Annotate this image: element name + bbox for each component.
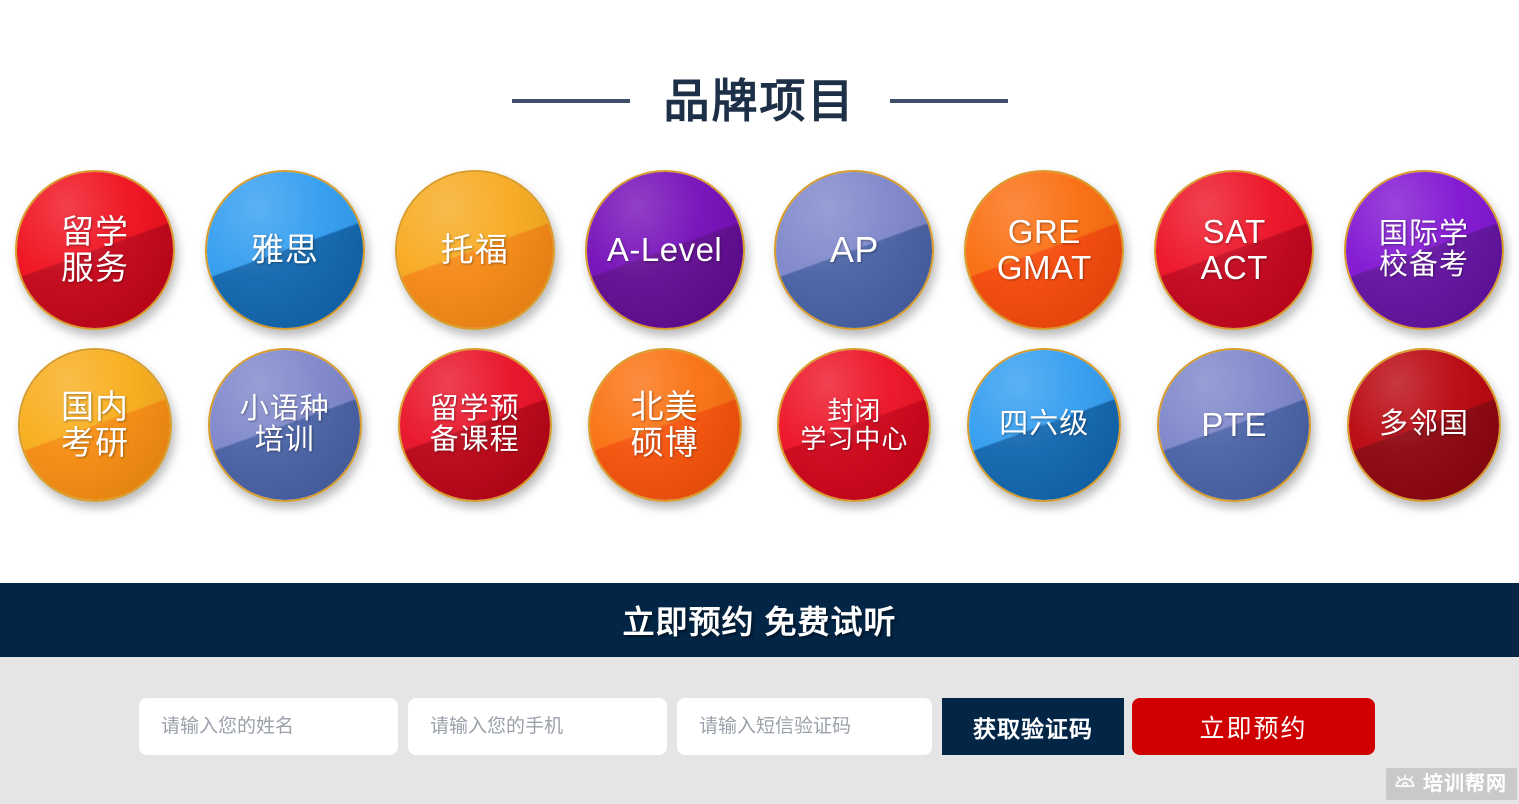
program-circle-grid: 留学 服务 雅思 托福 A-Level AP [0,170,1519,558]
program-cell: 雅思 [190,170,380,330]
eye-icon [1394,773,1416,795]
program-circle-ap[interactable]: AP [774,170,934,330]
booking-banner-title: 立即预约 免费试听 [623,597,897,643]
program-cell: 留学预 备课程 [380,348,570,502]
program-circle-gre-gmat[interactable]: GRE GMAT [964,170,1124,330]
program-cell: 留学 服务 [0,170,190,330]
program-label: 留学 服务 [55,214,135,285]
program-cell: 托福 [380,170,570,330]
sms-code-input[interactable] [677,698,932,755]
phone-input[interactable] [408,698,667,755]
program-circle-xiaoyuzhongpeixun[interactable]: 小语种 培训 [208,348,362,502]
program-label: AP [824,231,885,270]
program-cell: 小语种 培训 [190,348,380,502]
program-cell: SAT ACT [1139,170,1329,330]
booking-form-strip: 获取验证码 立即预约 [0,657,1519,804]
booking-banner: 立即预约 免费试听 [0,583,1519,657]
program-circle-fengbixuexizhongxin[interactable]: 封闭 学习中心 [777,348,931,502]
program-cell: A-Level [570,170,760,330]
submit-booking-button[interactable]: 立即预约 [1132,698,1375,755]
program-label: PTE [1195,407,1273,443]
heading-rule-left [512,99,630,103]
program-label: GRE GMAT [991,214,1098,285]
program-cell: 封闭 学习中心 [760,348,950,502]
program-circle-guoneikaoyan[interactable]: 国内 考研 [18,348,172,502]
program-label: A-Level [601,232,728,268]
program-row-1: 留学 服务 雅思 托福 A-Level AP [0,170,1519,330]
program-row-2: 国内 考研 小语种 培训 留学预 备课程 北美 硕博 封闭 学习 [0,348,1519,502]
program-label: 多邻国 [1373,409,1475,440]
section-heading: 品牌项目 [0,62,1519,140]
program-label: 四六级 [993,409,1095,440]
program-label: SAT ACT [1194,214,1274,285]
program-circle-a-level[interactable]: A-Level [585,170,745,330]
name-input[interactable] [139,698,398,755]
site-watermark: 培训帮网 [1386,768,1517,800]
program-cell: 多邻国 [1329,348,1519,502]
program-cell: 国际学 校备考 [1329,170,1519,330]
heading-rule-right [890,99,1008,103]
program-cell: GRE GMAT [949,170,1139,330]
program-cell: 四六级 [949,348,1139,502]
program-label: 封闭 学习中心 [794,397,914,453]
page-title: 品牌项目 [664,78,856,124]
program-circle-siliuji[interactable]: 四六级 [967,348,1121,502]
program-circle-duolinguo[interactable]: 多邻国 [1347,348,1501,502]
program-circle-liuxueyubeikecheng[interactable]: 留学预 备课程 [398,348,552,502]
program-label: 雅思 [245,232,325,268]
program-circle-yasi[interactable]: 雅思 [205,170,365,330]
program-cell: 国内 考研 [0,348,190,502]
program-circle-liuxuefuwu[interactable]: 留学 服务 [15,170,175,330]
watermark-label: 培训帮网 [1423,774,1507,794]
program-circle-tuofu[interactable]: 托福 [395,170,555,330]
program-label: 留学预 备课程 [424,394,526,457]
program-label: 国际学 校备考 [1373,219,1475,282]
program-circle-beimeishuobo[interactable]: 北美 硕博 [588,348,742,502]
program-label: 国内 考研 [55,389,135,460]
program-circle-pte[interactable]: PTE [1157,348,1311,502]
program-circle-guojixuexiaobeikao[interactable]: 国际学 校备考 [1344,170,1504,330]
program-label: 北美 硕博 [625,389,705,460]
booking-form: 获取验证码 立即预约 [139,698,1375,755]
program-circle-sat-act[interactable]: SAT ACT [1154,170,1314,330]
get-code-button[interactable]: 获取验证码 [942,698,1124,755]
program-cell: PTE [1139,348,1329,502]
program-label: 托福 [435,232,515,268]
program-cell: 北美 硕博 [570,348,760,502]
program-cell: AP [760,170,950,330]
brand-programs-page: 品牌项目 留学 服务 雅思 托福 A-Level [0,0,1519,804]
program-label: 小语种 培训 [234,394,336,457]
